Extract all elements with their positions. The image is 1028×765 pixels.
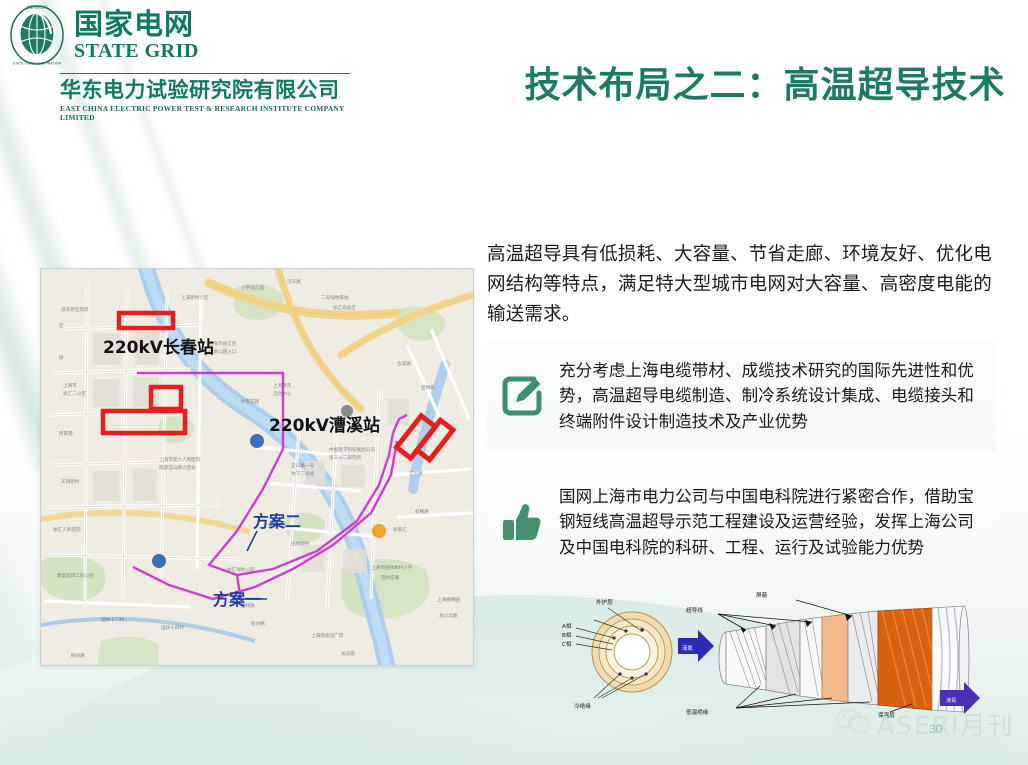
state-grid-emblem-icon: 国家电网公司 STATE GRID CORPORATION bbox=[8, 4, 66, 66]
highlight-card-1[interactable]: 充分考虑上海电缆带材、成缆技术研究的国际先进性和优势，高温超导电缆制造、制冷系统… bbox=[487, 340, 997, 452]
svg-text:A相: A相 bbox=[562, 622, 572, 630]
svg-text:C相: C相 bbox=[562, 640, 572, 648]
svg-text:徐汇商业区: 徐汇商业区 bbox=[333, 304, 356, 311]
map-label-caoxi: 220kV漕溪站 bbox=[269, 415, 380, 436]
svg-text:浦东新区政府: 浦东新区政府 bbox=[61, 306, 89, 313]
brand-block: 国家电网公司 STATE GRID CORPORATION 国家电网 STATE… bbox=[8, 4, 368, 122]
brand-name-cn: 国家电网 bbox=[74, 10, 199, 39]
svg-text:液氮: 液氮 bbox=[682, 644, 693, 652]
svg-text:冷绝缘: 冷绝缘 bbox=[574, 702, 591, 710]
svg-text:田林十二村: 田林十二村 bbox=[101, 616, 124, 623]
svg-text:南部宜山路六百号: 南部宜山路六百号 bbox=[159, 464, 196, 471]
svg-text:徐汇人民医院: 徐汇人民医院 bbox=[53, 526, 81, 533]
svg-text:上海南站北广场: 上海南站北广场 bbox=[311, 632, 344, 639]
svg-text:龙吴路: 龙吴路 bbox=[341, 650, 355, 657]
svg-text:液氮: 液氮 bbox=[946, 696, 957, 704]
highlight-card-2[interactable]: 国网上海市电力公司与中国电科院进行紧密合作，借助宝钢短线高温超导示范工程建设及运… bbox=[487, 466, 997, 578]
company-name-cn: 华东电力试验研究院有限公司 bbox=[60, 79, 368, 102]
highlight-card-2-text: 国网上海市电力公司与中国电科院进行紧密合作，借助宝钢短线高温超导示范工程建设及运… bbox=[559, 484, 983, 559]
svg-text:低温绝缘: 低温绝缘 bbox=[686, 708, 709, 716]
svg-text:上海市第六人民医院: 上海市第六人民医院 bbox=[159, 456, 201, 463]
cable-structure-figure: 外护层 A相B相C相 冷绝缘 液氮 bbox=[560, 586, 1000, 718]
svg-text:屏蔽: 屏蔽 bbox=[756, 591, 768, 599]
wechat-icon bbox=[836, 708, 870, 740]
svg-text:徐家汇: 徐家汇 bbox=[393, 526, 407, 533]
watermark-text: ASERI月刊 bbox=[877, 706, 1015, 742]
svg-text:第三十二研究所: 第三十二研究所 bbox=[329, 454, 362, 461]
map-label-scheme-one: 方案一 bbox=[213, 590, 267, 609]
cable-cross-section bbox=[592, 612, 672, 692]
brand-name-en: STATE GRID bbox=[74, 41, 199, 61]
svg-text:外护层: 外护层 bbox=[596, 598, 613, 606]
svg-text:超导线: 超导线 bbox=[686, 606, 703, 614]
svg-text:宜山路一号: 宜山路一号 bbox=[291, 462, 314, 469]
edit-square-icon bbox=[499, 373, 545, 419]
brand-divider bbox=[60, 73, 350, 74]
svg-text:中国电子科技集团公司: 中国电子科技集团公司 bbox=[329, 446, 375, 453]
svg-text:区: 区 bbox=[59, 323, 64, 329]
map-label-changchun: 220kV长春站 bbox=[103, 337, 214, 358]
map-image[interactable]: 浦东新区政府区 街上海市徐汇二小区 周家巷天钥新村 徐汇人民医院建筑装饰工程公司… bbox=[41, 269, 473, 665]
svg-text:上海青年: 上海青年 bbox=[273, 382, 292, 389]
svg-text:桂林路: 桂林路 bbox=[421, 384, 435, 391]
svg-text:周家巷: 周家巷 bbox=[59, 430, 73, 437]
lead-paragraph: 高温超导具有低损耗、大容量、节省走廊、环境友好、优化电网结构等特点，满足特大型城… bbox=[487, 240, 997, 330]
page-number: 30 bbox=[929, 722, 942, 736]
svg-text:可乐路: 可乐路 bbox=[287, 278, 301, 285]
svg-text:虹梅路: 虹梅路 bbox=[415, 508, 429, 515]
page-title: 技术布局之二：高温超导技术 bbox=[520, 56, 1010, 108]
svg-text:上海市田林新村小学: 上海市田林新村小学 bbox=[371, 564, 413, 571]
svg-text:220kV漕溪站: 220kV漕溪站 bbox=[269, 415, 380, 436]
svg-text:建筑装饰工程公司: 建筑装饰工程公司 bbox=[57, 572, 94, 579]
svg-text:220kV长春站: 220kV长春站 bbox=[103, 337, 214, 358]
svg-text:STATE GRID CORPORATION: STATE GRID CORPORATION bbox=[13, 61, 62, 65]
map-panel[interactable]: 浦东新区政府区 街上海市徐汇二小区 周家巷天钥新村 徐汇人民医院建筑装饰工程公司… bbox=[40, 268, 474, 666]
svg-text:上海市: 上海市 bbox=[63, 382, 77, 389]
svg-text:田林十四村: 田林十四村 bbox=[161, 624, 184, 631]
svg-text:上海植物园: 上海植物园 bbox=[437, 596, 460, 603]
highlight-card-1-text: 充分考虑上海电缆带材、成缆技术研究的国际先进性和优势，高温超导电缆制造、制冷系统… bbox=[559, 358, 983, 433]
slide-canvas: 国家电网公司 STATE GRID CORPORATION 国家电网 STATE… bbox=[0, 0, 1028, 765]
svg-text:上海新村小区: 上海新村小区 bbox=[181, 294, 209, 301]
svg-text:二号线地铁站: 二号线地铁站 bbox=[321, 294, 349, 301]
svg-text:地下二号线: 地下二号线 bbox=[291, 470, 314, 477]
svg-text:体育馆路: 体育馆路 bbox=[241, 398, 260, 405]
svg-text:街: 街 bbox=[59, 354, 64, 361]
company-name-en: EAST CHINA ELECTRIC POWER TEST & RESEARC… bbox=[60, 104, 368, 122]
svg-text:天钥新村: 天钥新村 bbox=[61, 478, 80, 485]
watermark: ASERI月刊 bbox=[836, 706, 1015, 742]
svg-text:国家电网公司: 国家电网公司 bbox=[26, 5, 48, 10]
svg-text:宜山路: 宜山路 bbox=[409, 470, 423, 477]
svg-text:柳州路: 柳州路 bbox=[71, 652, 85, 659]
svg-text:徐汇二小区: 徐汇二小区 bbox=[63, 390, 86, 397]
svg-text:古美路: 古美路 bbox=[397, 360, 411, 367]
svg-text:田林东路: 田林东路 bbox=[381, 574, 400, 581]
svg-text:钦州路: 钦州路 bbox=[251, 620, 265, 627]
svg-text:B相: B相 bbox=[562, 631, 572, 639]
thumbs-up-icon bbox=[499, 499, 545, 545]
svg-text:小学幼儿园: 小学幼儿园 bbox=[241, 284, 264, 291]
svg-text:方案二: 方案二 bbox=[253, 512, 301, 531]
svg-text:龙川北路: 龙川北路 bbox=[439, 612, 458, 619]
svg-text:田林新村: 田林新村 bbox=[291, 540, 310, 547]
svg-text:徐汇绿地公园: 徐汇绿地公园 bbox=[227, 566, 255, 573]
coolant-inlet-arrow: 液氮 bbox=[678, 630, 714, 662]
svg-text:活动中心: 活动中心 bbox=[273, 390, 292, 397]
